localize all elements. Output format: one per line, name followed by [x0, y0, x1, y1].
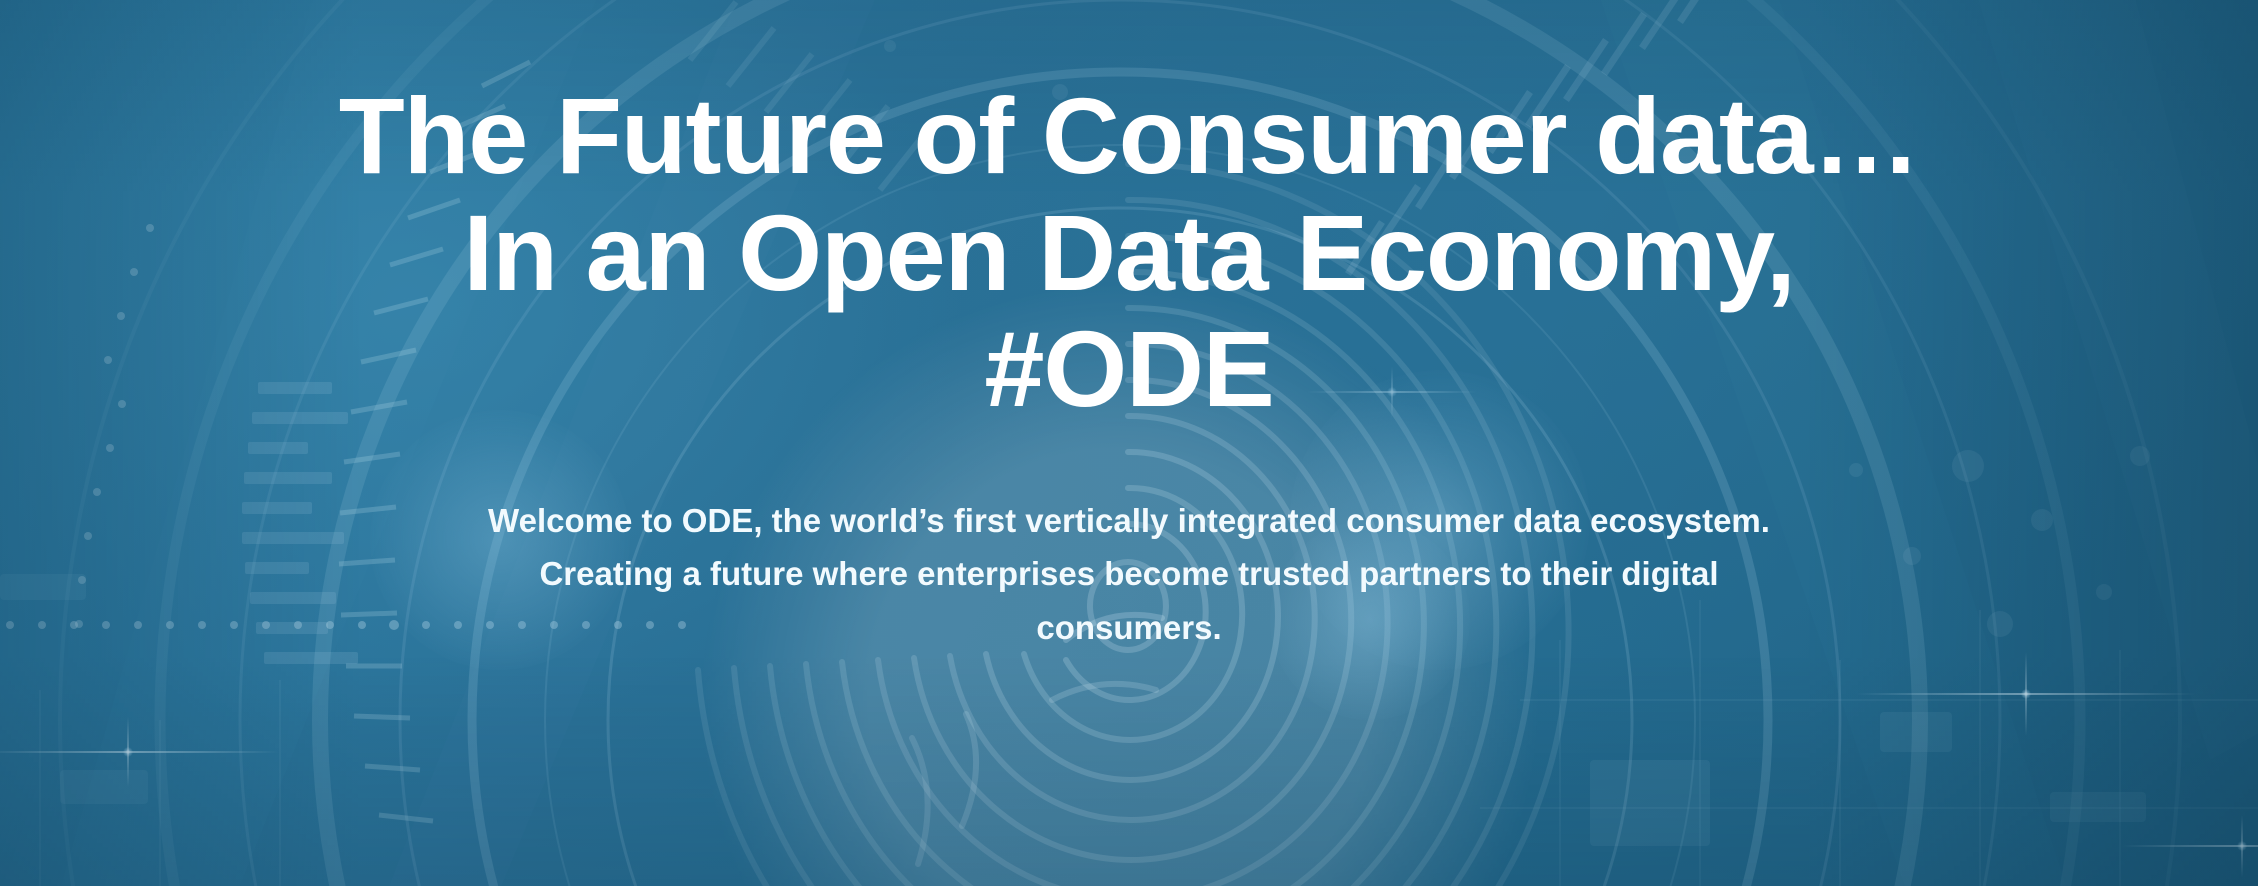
hero-title-line-1: The Future of Consumer data… [28, 78, 2230, 195]
hero-subtitle-line-2: Creating a future where enterprises beco… [269, 547, 1989, 600]
hero-banner: The Future of Consumer data… In an Open … [0, 0, 2258, 886]
hero-subtitle-line-1: Welcome to ODE, the world’s first vertic… [269, 494, 1989, 547]
hero-subtitle-line-3: consumers. [269, 601, 1989, 654]
hero-title: The Future of Consumer data… In an Open … [28, 78, 2230, 428]
hero-content: The Future of Consumer data… In an Open … [0, 0, 2258, 886]
hero-title-line-3: #ODE [28, 311, 2230, 428]
hero-title-line-2: In an Open Data Economy, [28, 195, 2230, 312]
hero-subtitle: Welcome to ODE, the world’s first vertic… [269, 494, 1989, 654]
